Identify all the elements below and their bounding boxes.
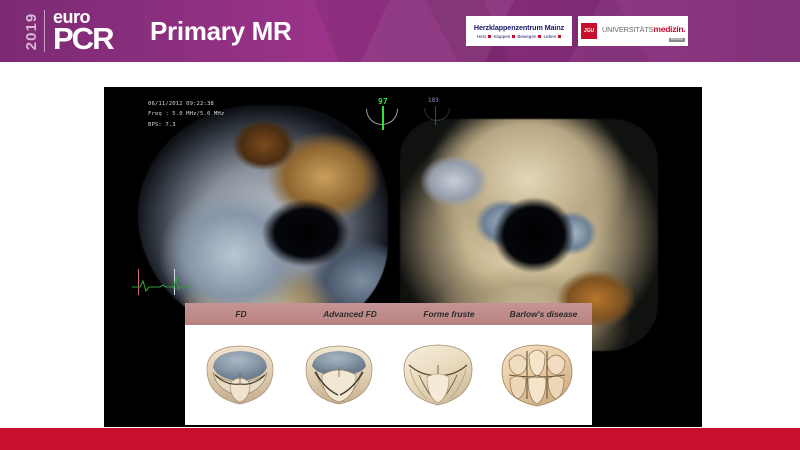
um-logo-prefix: UNIVERSITÄTS	[602, 25, 653, 34]
figure-label-forme-fruste: Forme fruste	[403, 309, 495, 319]
echo-meta-timestamp: 06/11/2012 09:22:38	[148, 99, 224, 109]
logo-year-text: 2019	[24, 12, 41, 49]
um-logo-line: UNIVERSITÄTSmedizin.	[602, 20, 685, 36]
hkz-tagline-word-2: Klappen	[493, 34, 510, 39]
herzklappenzentrum-mainz-logo: Herzklappenzentrum Mainz Herz Klappen Be…	[466, 16, 572, 46]
sector-needle-icon	[435, 106, 436, 125]
square-bullet-icon	[488, 35, 491, 38]
valve-illustration-forme-fruste	[397, 339, 479, 411]
echo-sector-angle-secondary: 183	[422, 97, 456, 127]
um-logo-accent: medizin.	[653, 24, 685, 34]
valve-illustration-barlows-disease	[496, 339, 578, 411]
echo-metadata-overlay: 06/11/2012 09:22:38 Freq : 5.0 MHz/5.0 M…	[148, 99, 224, 130]
echo-sector-angle-primary: 97	[362, 97, 406, 129]
square-bullet-icon	[558, 35, 561, 38]
um-logo-city: MAINZ	[669, 38, 686, 43]
hkz-tagline-word-4: Leben	[543, 34, 556, 39]
figure-label-fd: FD	[185, 309, 297, 319]
hkz-logo-tagline: Herz Klappen Bewegen Leben	[477, 34, 562, 39]
logo-wordmark: euro PCR	[53, 8, 112, 54]
um-logo-wordmark: UNIVERSITÄTSmedizin. MAINZ	[602, 20, 685, 43]
slide-content-canvas: 06/11/2012 09:22:38 Freq : 5.0 MHz/5.0 M…	[104, 87, 702, 427]
valve-illustration-fd	[199, 339, 281, 411]
sector-needle-icon	[382, 106, 384, 130]
angle-secondary-value: 183	[428, 97, 439, 104]
echo-meta-bps: BPS: 7.3	[148, 120, 224, 130]
logo-year: 2019	[22, 8, 42, 54]
logo-divider	[44, 10, 45, 52]
figure-label-barlows-disease: Barlow's disease	[495, 309, 592, 319]
square-bullet-icon	[538, 35, 541, 38]
figure-label-band: FD Advanced FD Forme fruste Barlow's dis…	[185, 303, 592, 325]
square-bullet-icon	[512, 35, 515, 38]
hkz-logo-title: Herzklappenzentrum Mainz	[474, 23, 564, 32]
slide-header: 2019 euro PCR Primary MR Herzklappenzent…	[0, 0, 800, 62]
jgu-crest-icon: JGU	[581, 23, 597, 39]
echo-meta-frequency: Freq : 5.0 MHz/5.0 MHz	[148, 109, 224, 119]
ecg-trace	[130, 267, 194, 303]
europcr-logo: 2019 euro PCR	[22, 7, 132, 55]
sector-fan-icon	[424, 108, 450, 121]
hkz-tagline-word-1: Herz	[477, 34, 487, 39]
valve-illustration-row	[185, 325, 592, 425]
figure-label-advanced-fd: Advanced FD	[297, 309, 403, 319]
valve-morphology-figure: FD Advanced FD Forme fruste Barlow's dis…	[185, 303, 592, 425]
slide-footer-bar	[0, 428, 800, 450]
universitaetsmedizin-logo: JGU UNIVERSITÄTSmedizin. MAINZ	[578, 16, 688, 46]
ecg-waveform-icon	[130, 267, 194, 303]
hkz-tagline-word-3: Bewegen	[517, 34, 536, 39]
logo-pcr-text: PCR	[53, 23, 112, 54]
page-title: Primary MR	[150, 16, 292, 47]
angle-primary-value: 97	[378, 97, 388, 106]
valve-illustration-advanced-fd	[298, 339, 380, 411]
